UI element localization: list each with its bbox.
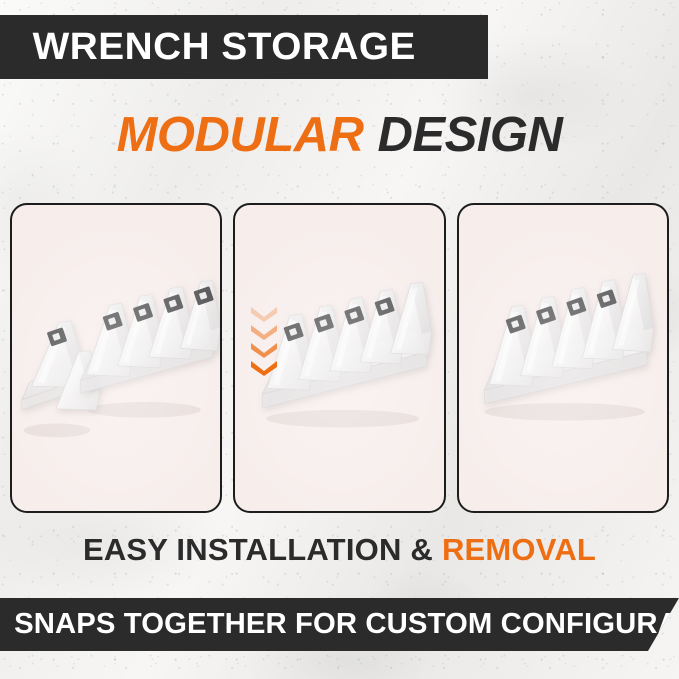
footer-banner: SNAPS TOGETHER FOR CUSTOM CONFIGURATIONS (0, 598, 679, 651)
footer-banner-text: SNAPS TOGETHER FOR CUSTOM CONFIGURATIONS (0, 608, 679, 641)
panel-assembled (457, 203, 669, 513)
page-title: WRENCH STORAGE (0, 26, 416, 69)
chevron-down-icon (249, 323, 279, 340)
chevron-down-icon (249, 305, 279, 322)
panel-row (10, 203, 669, 513)
panel-snapping (233, 203, 445, 513)
panel-separated (10, 203, 222, 513)
subtitle-accent-word: MODULAR (117, 107, 364, 163)
tagline-dark-text: EASY INSTALLATION & (83, 532, 433, 568)
chevron-stack (247, 305, 281, 387)
shadow-assembly (484, 403, 644, 421)
shadow-right (87, 402, 200, 418)
subtitle: MODULAR DESIGN (0, 104, 679, 166)
infographic-canvas: WRENCH STORAGE MODULAR DESIGN (0, 0, 679, 679)
chevron-down-icon (249, 359, 279, 376)
wrench-holder-group-assembled (459, 205, 667, 511)
chevron-down-icon (249, 341, 279, 358)
header-title-bar: WRENCH STORAGE (0, 15, 488, 79)
product-illustration-separated (12, 205, 220, 511)
product-illustration-assembled (459, 205, 667, 511)
tagline-accent-text: REMOVAL (442, 532, 596, 568)
tagline: EASY INSTALLATION & REMOVAL (0, 527, 679, 573)
shadow-left (24, 424, 91, 438)
holder-group-five (484, 274, 653, 404)
shadow-assembly (267, 410, 420, 428)
subtitle-dark-word: DESIGN (378, 107, 563, 163)
wrench-holder-group-separated (12, 205, 220, 511)
holder-group-five (263, 283, 432, 408)
